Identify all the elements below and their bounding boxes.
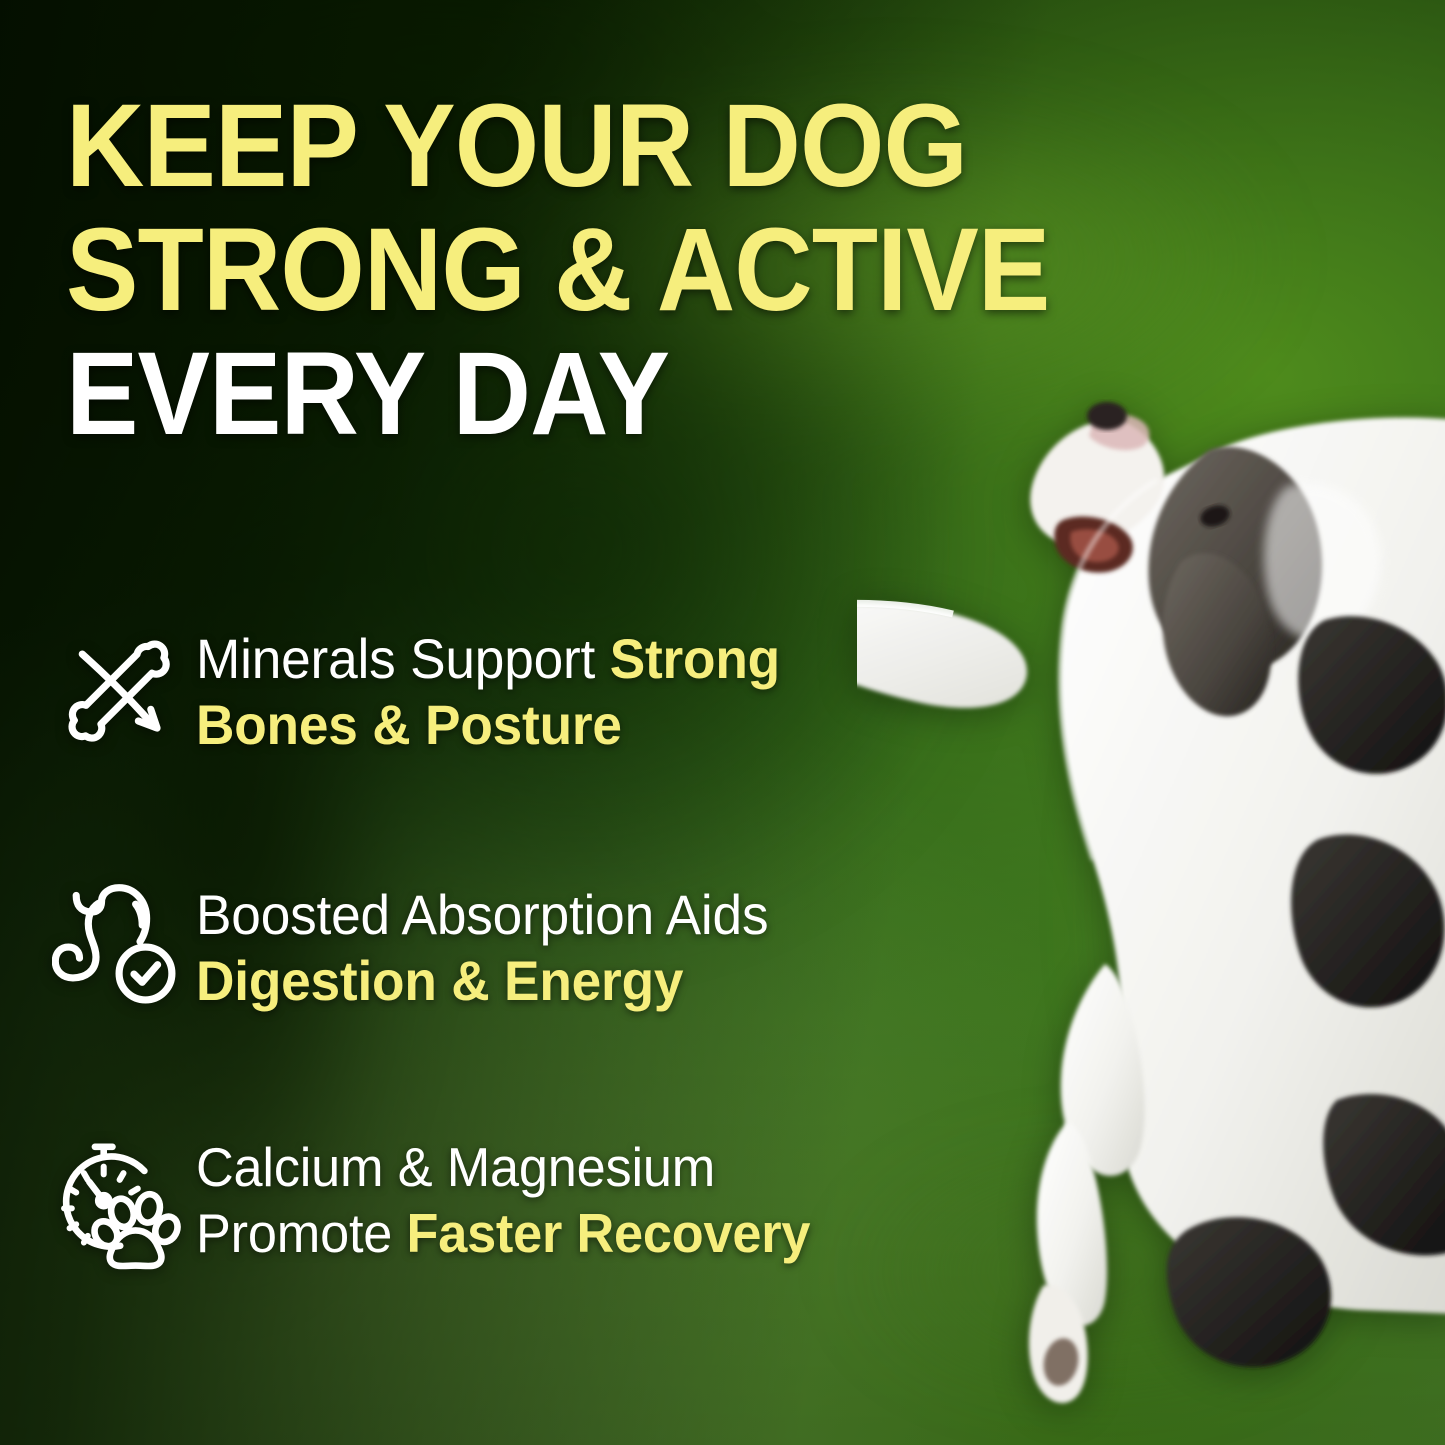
benefit-item-recovery: Calcium & Magnesium Promote Faster Recov… [52, 1120, 952, 1270]
benefit-1-emphasis-2: Bones & Posture [196, 693, 622, 756]
dog-body-shape [1029, 402, 1445, 1403]
benefit-2-plain: Boosted Absorption Aids [196, 883, 768, 946]
benefit-text-recovery: Calcium & Magnesium Promote Faster Recov… [196, 1120, 914, 1266]
benefit-2-emphasis: Digestion & Energy [196, 949, 683, 1012]
benefit-3-plain-1: Calcium & Magnesium [196, 1136, 715, 1198]
stopwatch-paw-icon [52, 1138, 184, 1270]
benefit-item-digestion: Boosted Absorption Aids Digestion & Ener… [52, 868, 952, 1014]
promo-banner: KEEP YOUR DOG STRONG & ACTIVE EVERY DAY … [0, 0, 1445, 1445]
benefit-1-emphasis-1: Strong [610, 627, 780, 690]
benefit-item-bones: Minerals Support Strong Bones & Posture [52, 612, 952, 758]
headline-line-2: STRONG & ACTIVE [66, 208, 1032, 332]
headline-line-1: KEEP YOUR DOG [66, 84, 1032, 208]
crossed-bone-arrow-icon [52, 624, 184, 756]
headline-line-3: EVERY DAY [66, 332, 1032, 456]
page-title: KEEP YOUR DOG STRONG & ACTIVE EVERY DAY [66, 84, 1032, 456]
benefit-text-bones: Minerals Support Strong Bones & Posture [196, 612, 914, 758]
benefit-3-emphasis: Faster Recovery [406, 1202, 810, 1264]
benefit-3-plain-2: Promote [196, 1202, 406, 1264]
benefit-text-digestion: Boosted Absorption Aids Digestion & Ener… [196, 868, 914, 1014]
benefit-1-plain: Minerals Support [196, 627, 610, 690]
benefits-list: Minerals Support Strong Bones & Posture [52, 612, 952, 1270]
dog-photo [885, 300, 1445, 1445]
stomach-check-icon [52, 880, 184, 1012]
